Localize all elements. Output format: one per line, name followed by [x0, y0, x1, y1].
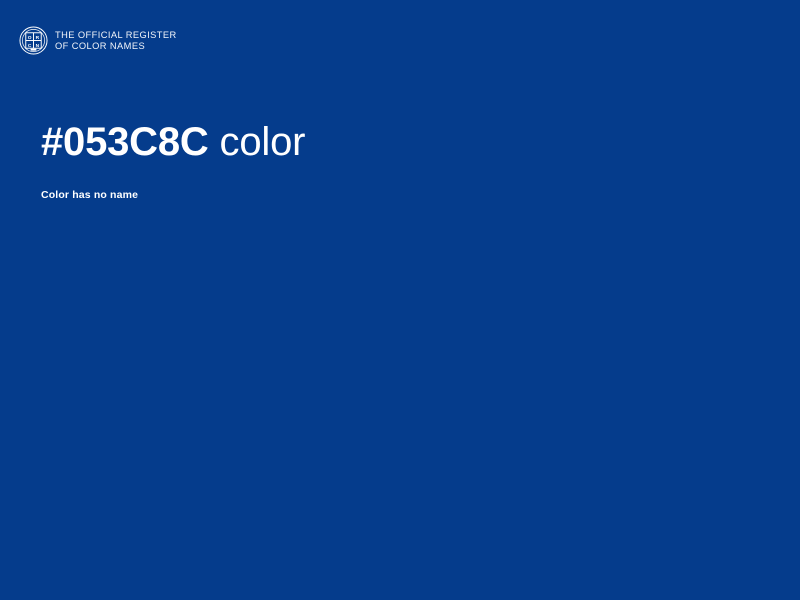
brand-logo-link[interactable]: O R C N THE OFFICIAL REGISTER OF COLOR N… — [19, 26, 177, 55]
svg-text:C: C — [28, 42, 32, 48]
brand-text: THE OFFICIAL REGISTER OF COLOR NAMES — [55, 29, 177, 51]
site-header: O R C N THE OFFICIAL REGISTER OF COLOR N… — [0, 0, 800, 80]
svg-text:O: O — [28, 35, 32, 41]
page-title-hex: #053C8C — [41, 120, 209, 164]
brand-seal: O R C N — [19, 26, 48, 55]
page-title: #053C8C color — [41, 118, 741, 166]
page-title-suffix: color — [220, 120, 306, 164]
color-swatch — [0, 0, 800, 600]
svg-text:R: R — [36, 35, 40, 41]
color-name-status: Color has no name — [41, 188, 741, 202]
svg-text:N: N — [36, 42, 40, 48]
brand-line-2: OF COLOR NAMES — [55, 41, 177, 51]
main-content: #053C8C color Color has no name — [41, 118, 741, 202]
brand-line-1: THE OFFICIAL REGISTER — [55, 30, 177, 40]
register-seal-icon: O R C N — [19, 26, 48, 55]
